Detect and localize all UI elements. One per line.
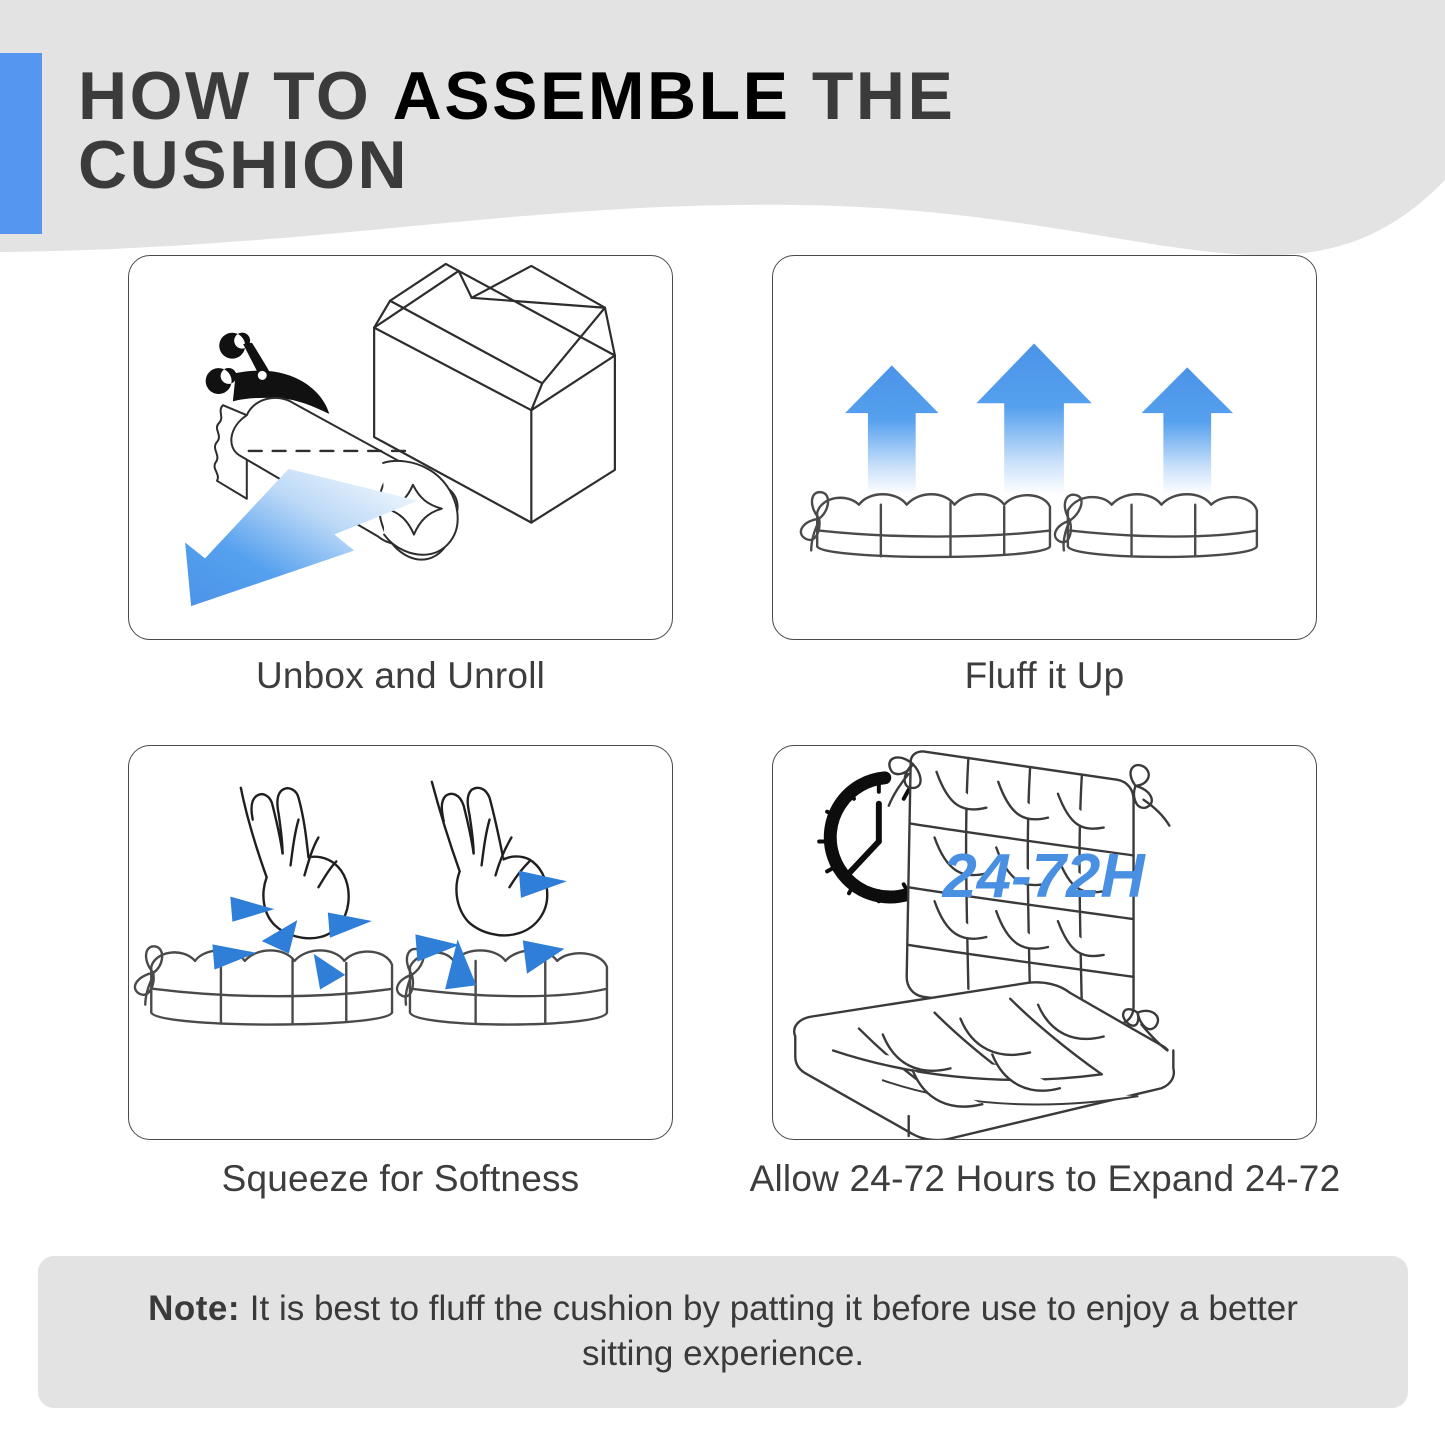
step-panel-squeeze-for-softness xyxy=(128,745,673,1140)
motion-triangle-icon xyxy=(328,913,370,937)
blue-arrow-up-icon xyxy=(1141,367,1233,494)
flat-rolled-cushion-icon xyxy=(817,494,1257,557)
note-content: Note: It is best to fluff the cushion by… xyxy=(98,1287,1348,1377)
chair-cushion-icon xyxy=(794,751,1174,1139)
infographic-canvas: HOW TO ASSEMBLE THE CUSHION xyxy=(0,0,1445,1445)
expand-illustration: 24-72H xyxy=(773,746,1316,1139)
blue-arrow-up-icon xyxy=(976,344,1091,495)
caption-fluff-it-up: Fluff it Up xyxy=(772,655,1317,697)
caption-allow-time-to-expand: Allow 24-72 Hours to Expand 24-72 xyxy=(745,1158,1345,1200)
note-box: Note: It is best to fluff the cushion by… xyxy=(38,1256,1408,1408)
note-label: Note: xyxy=(148,1289,240,1328)
title-accent-bar xyxy=(0,53,42,234)
page-title-part-1: HOW TO xyxy=(78,58,393,134)
hand-patting-icon xyxy=(432,782,547,936)
caption-squeeze-for-softness: Squeeze for Softness xyxy=(128,1158,673,1200)
duration-badge: 24-72H xyxy=(942,842,1147,911)
blue-arrow-up-icon xyxy=(845,365,939,494)
fluff-illustration xyxy=(773,256,1316,639)
squeeze-illustration xyxy=(129,746,672,1139)
step-panel-fluff-it-up xyxy=(772,255,1317,640)
step-panel-allow-time-to-expand: 24-72H xyxy=(772,745,1317,1140)
page-title: HOW TO ASSEMBLE THE CUSHION xyxy=(78,62,1128,201)
unbox-illustration xyxy=(129,256,672,639)
page-title-emphasis: ASSEMBLE xyxy=(393,58,791,134)
caption-unbox-and-unroll: Unbox and Unroll xyxy=(128,655,673,697)
note-text: It is best to fluff the cushion by patti… xyxy=(250,1289,1298,1373)
step-panel-unbox-and-unroll xyxy=(128,255,673,640)
tie-bow-icon xyxy=(1131,765,1170,826)
